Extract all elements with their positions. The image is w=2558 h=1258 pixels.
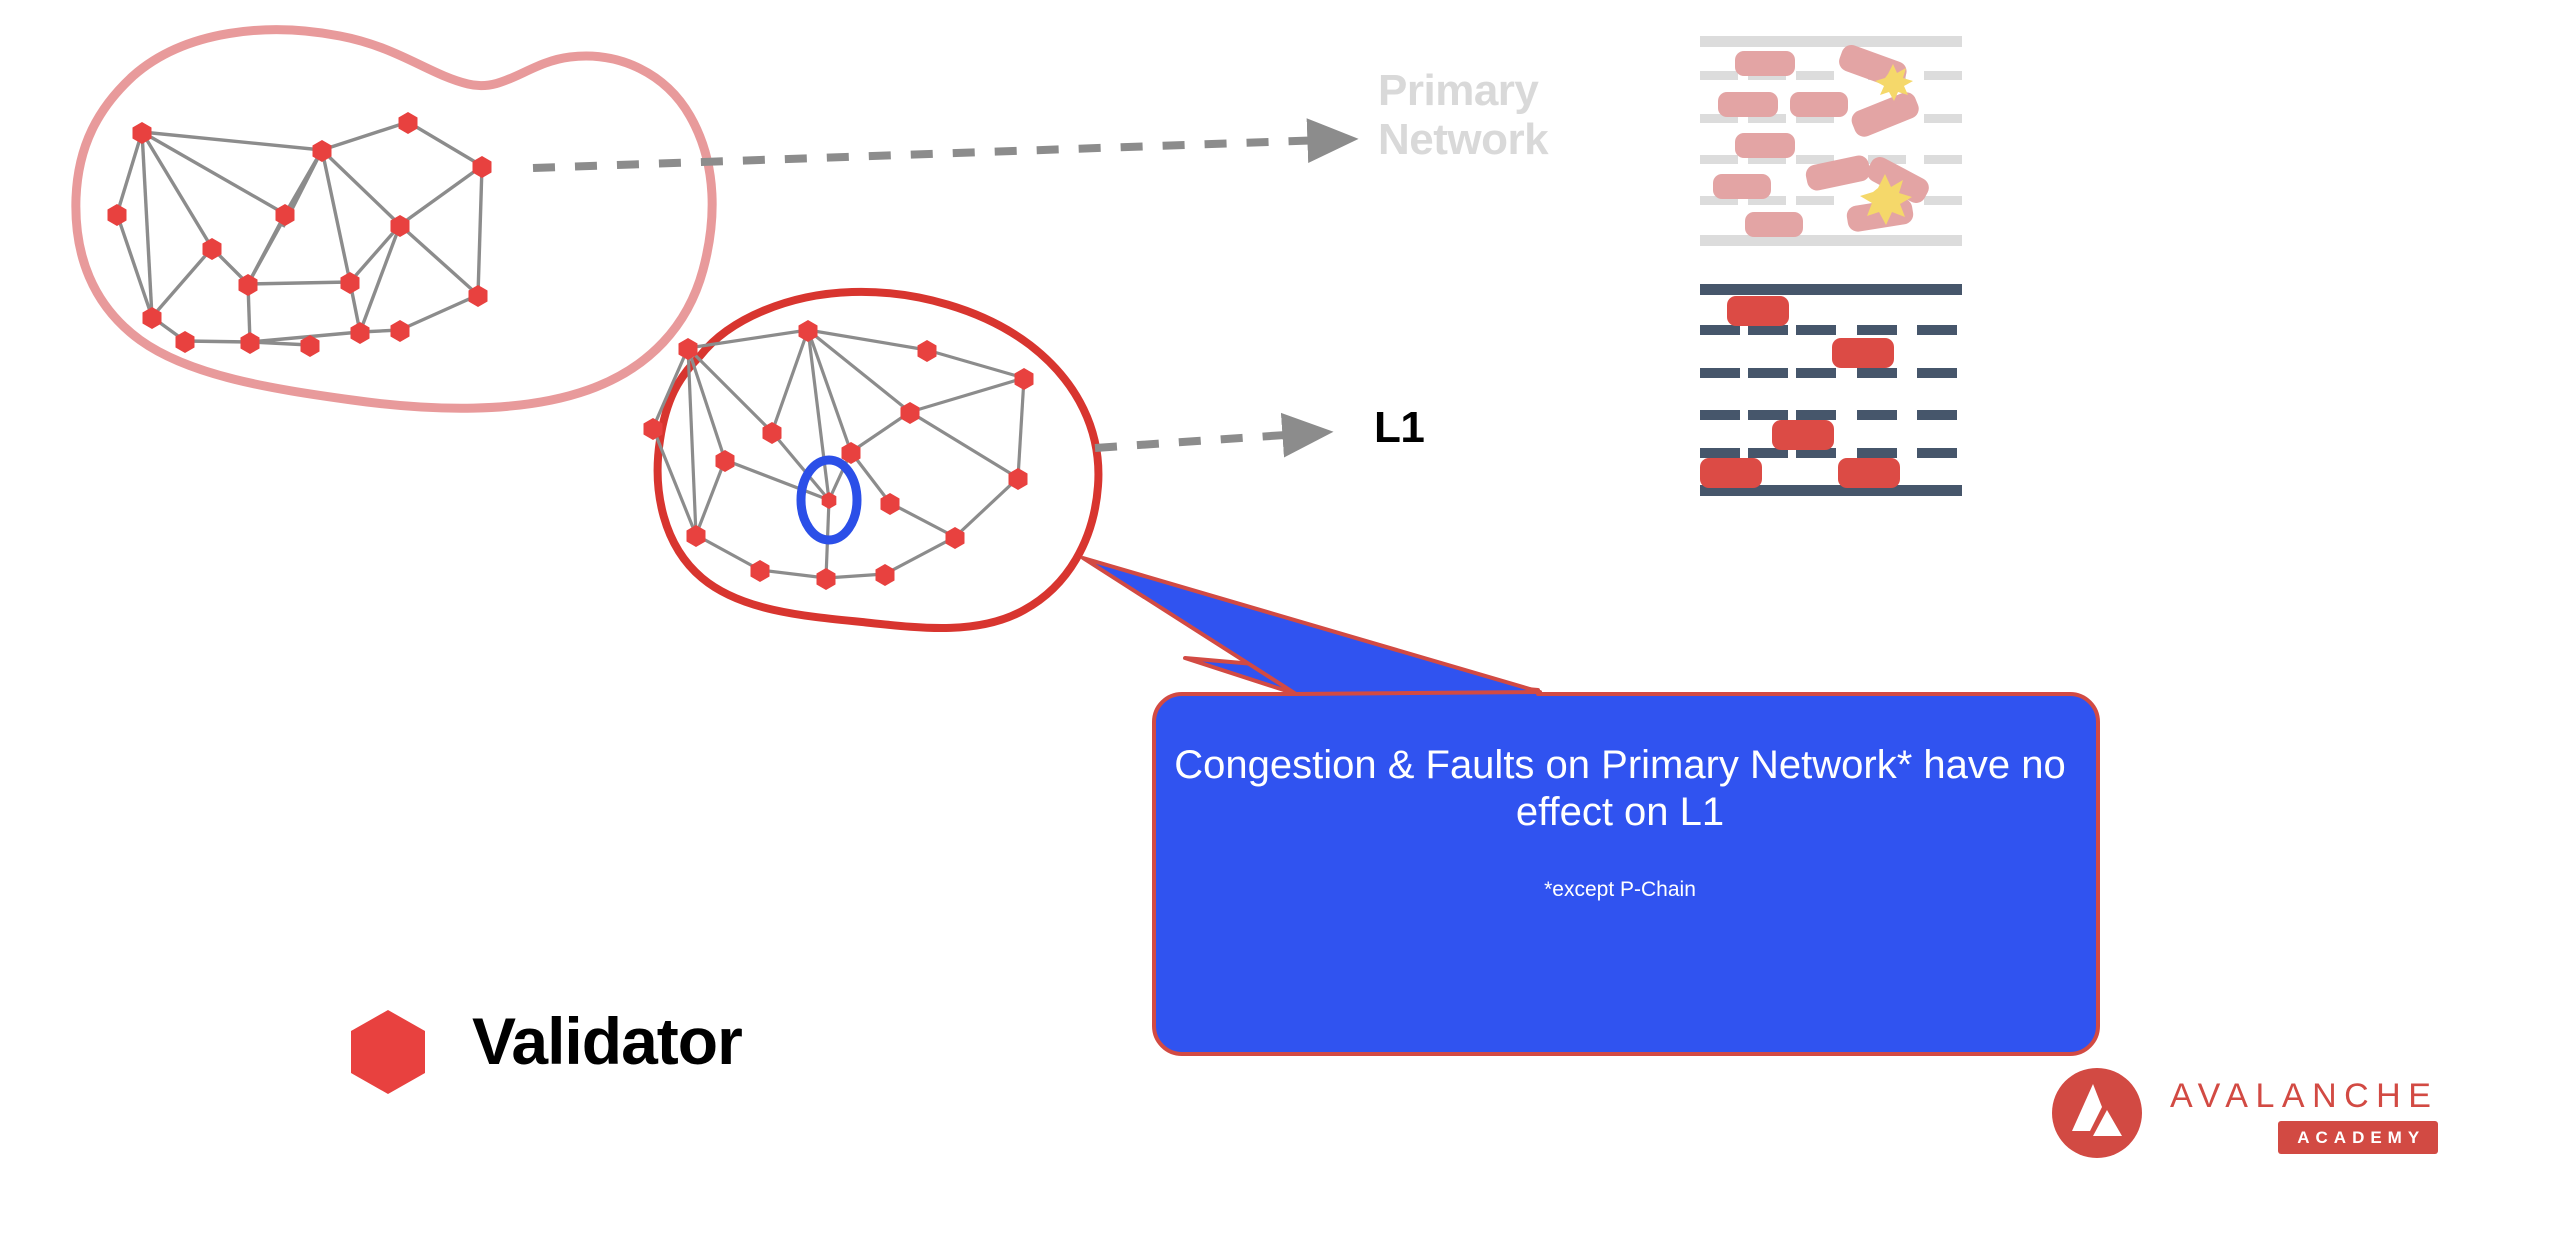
primary-network-activity-panel	[1700, 36, 1962, 246]
primary-network-arrow	[533, 140, 1325, 168]
callout-text-block: Congestion & Faults on Primary Network* …	[1165, 742, 2075, 902]
logo-mark-spacer	[2052, 1068, 2148, 1164]
l1-activity-panel	[1700, 284, 1962, 496]
l1-arrow	[1095, 434, 1300, 448]
diagram-canvas: Primary Network L1 Congestion & Faults o…	[0, 0, 2558, 1258]
connector-arrows	[533, 140, 1325, 448]
validator-legend-label: Validator	[472, 1003, 742, 1079]
l1-label: L1	[1374, 403, 1424, 452]
validator-legend-swatch-spacer	[350, 995, 438, 1087]
avalanche-academy-logo: AVALANCHE ACADEMY	[2052, 1068, 2438, 1164]
callout-footnote: *except P-Chain	[1165, 878, 2075, 902]
primary-network-cluster	[76, 30, 712, 408]
logo-academy-badge: ACADEMY	[2278, 1121, 2438, 1154]
callout-main-text: Congestion & Faults on Primary Network* …	[1165, 742, 2075, 836]
collision-burst-icon	[1860, 64, 1913, 225]
logo-brand-text: AVALANCHE	[2170, 1079, 2438, 1113]
primary-network-label: Primary Network	[1378, 66, 1548, 165]
primary-network-edges	[117, 122, 482, 345]
l1-cluster	[644, 292, 1099, 628]
l1-blocks	[1700, 296, 1900, 488]
logo-wordmark: AVALANCHE ACADEMY	[2170, 1079, 2438, 1154]
validator-legend: Validator	[350, 995, 742, 1087]
callout-tail	[1083, 558, 1540, 694]
logo-sub-text: ACADEMY	[2278, 1129, 2438, 1146]
